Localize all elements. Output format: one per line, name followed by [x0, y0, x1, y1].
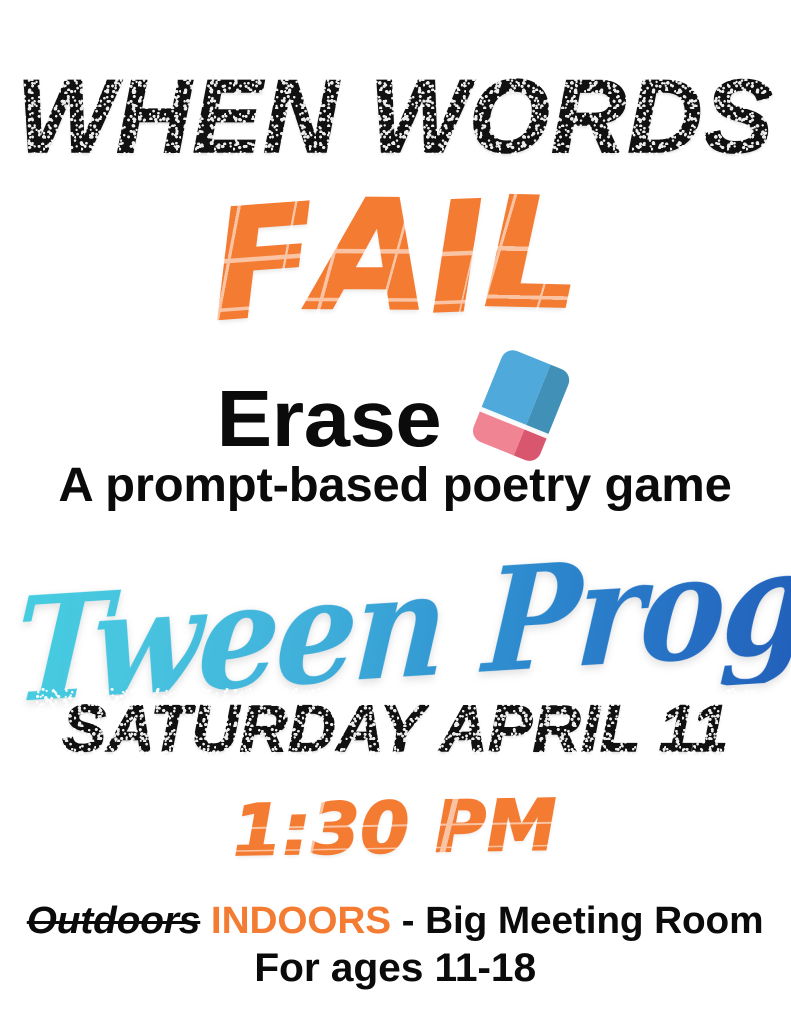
fail-letter-4: L: [483, 172, 582, 336]
fail-letter-3: I: [426, 177, 487, 341]
fail-letter-2: A: [313, 175, 430, 338]
venue-room-name: - Big Meeting Room: [391, 900, 763, 942]
game-name-text: Erase: [216, 376, 441, 462]
headline-line-2: FAIL: [0, 178, 791, 340]
event-time-text: 1:30 PM: [233, 787, 559, 869]
fail-letter-1: F: [205, 179, 319, 348]
event-date-row: SATURDAY APRIL 11: [0, 692, 791, 764]
event-time-value: 1:30 PM: [233, 787, 559, 869]
event-venue-row: Outdoors INDOORS - Big Meeting Room: [0, 898, 791, 944]
program-title-row: Tween Program: [0, 548, 791, 698]
event-time-row: 1:30 PM: [0, 790, 791, 866]
headline-when-words-text: WHEN WORDS: [17, 62, 775, 172]
poster-canvas: WHEN WORDS FAIL Erase: [0, 0, 791, 1024]
event-venue-group: Outdoors INDOORS - Big Meeting Room: [27, 898, 764, 944]
venue-outdoors-struck: Outdoors: [27, 900, 200, 942]
eraser-icon: [458, 348, 570, 466]
game-tagline-text: A prompt-based poetry game: [59, 458, 732, 514]
event-ages-text: For ages 11-18: [255, 944, 537, 992]
event-date-text: SATURDAY APRIL 11: [62, 692, 728, 764]
headline-fail-text: FAIL: [209, 174, 581, 344]
venue-indoors-highlight: INDOORS: [211, 900, 391, 942]
event-ages-row: For ages 11-18: [0, 944, 791, 992]
headline-line-1: WHEN WORDS: [0, 62, 791, 172]
game-tagline-row: A prompt-based poetry game: [0, 458, 791, 514]
game-name-row: Erase: [0, 372, 791, 468]
